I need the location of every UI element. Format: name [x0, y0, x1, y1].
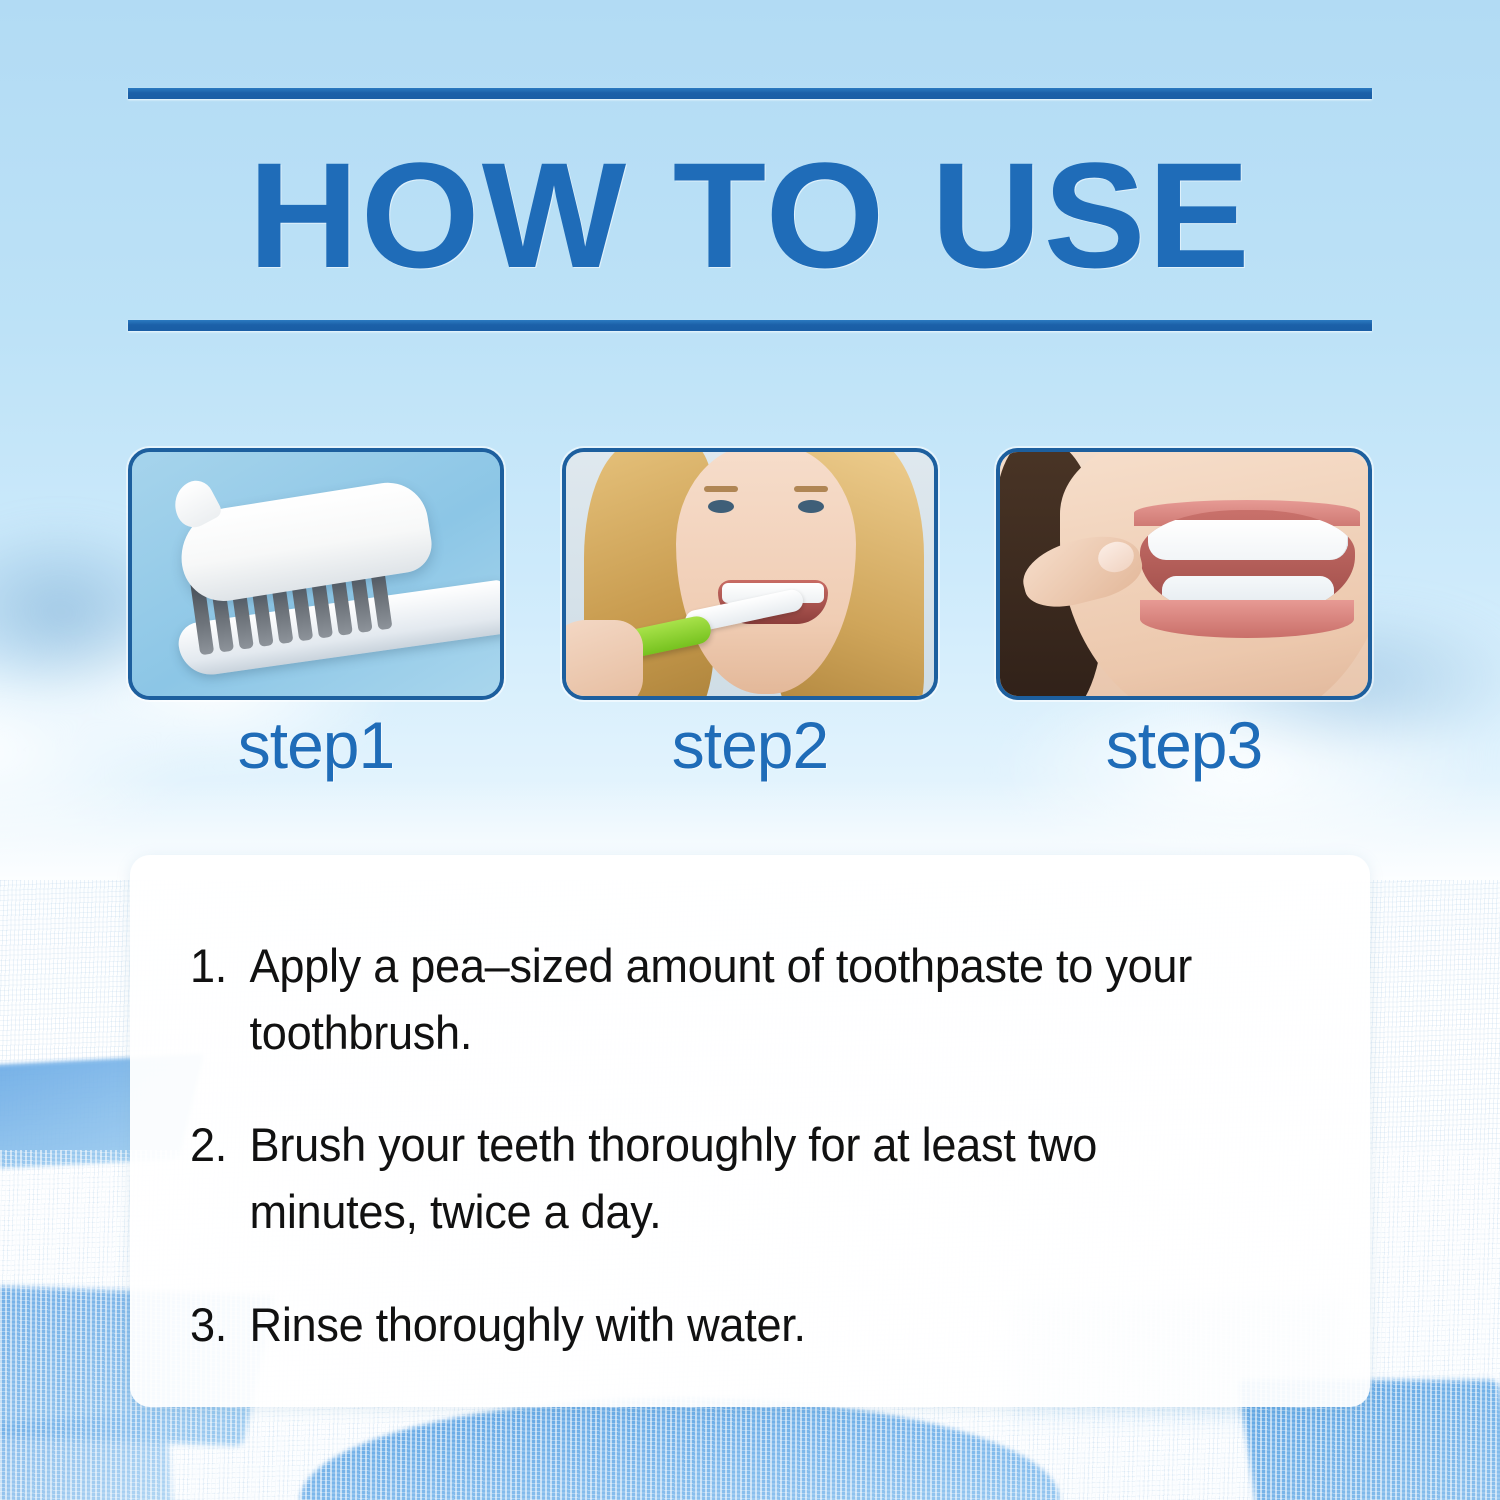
instruction-item-3: 3. Rinse thoroughly with water. [190, 1292, 1265, 1359]
step-2-label: step2 [562, 712, 938, 778]
ice-block-decoration-3 [300, 1398, 1060, 1500]
title-bottom-divider [128, 320, 1372, 331]
woman-brushing-teeth-icon [566, 452, 934, 696]
step-item-1: step1 [128, 448, 504, 793]
step-item-2: step2 [562, 448, 938, 793]
how-to-use-panel: HOW TO USE step1 [0, 0, 1500, 1500]
hand-icon [562, 620, 643, 700]
ice-block-decoration-5 [0, 1411, 174, 1500]
instruction-3-text: Rinse thoroughly with water. [250, 1292, 1210, 1359]
instruction-1-number: 1. [190, 933, 250, 1066]
instruction-1-text: Apply a pea–sized amount of toothpaste t… [250, 933, 1210, 1066]
step-item-3: step3 [996, 448, 1372, 793]
page-title: HOW TO USE [0, 140, 1500, 290]
instruction-2-text: Brush your teeth thoroughly for at least… [250, 1112, 1210, 1245]
step-1-image-frame [128, 448, 504, 700]
instruction-2-number: 2. [190, 1112, 250, 1245]
step-3-image-frame [996, 448, 1372, 700]
instructions-card: 1. Apply a pea–sized amount of toothpast… [130, 855, 1370, 1407]
step-2-image-frame [562, 448, 938, 700]
toothbrush-with-toothpaste-icon [132, 452, 500, 696]
title-top-divider [128, 88, 1372, 99]
step-1-label: step1 [128, 712, 504, 778]
step-3-label: step3 [996, 712, 1372, 778]
white-smile-close-up-icon [1000, 452, 1368, 696]
instruction-item-1: 1. Apply a pea–sized amount of toothpast… [190, 933, 1265, 1066]
steps-row: step1 step2 [128, 448, 1372, 793]
instruction-3-number: 3. [190, 1292, 250, 1359]
instruction-item-2: 2. Brush your teeth thoroughly for at le… [190, 1112, 1265, 1245]
